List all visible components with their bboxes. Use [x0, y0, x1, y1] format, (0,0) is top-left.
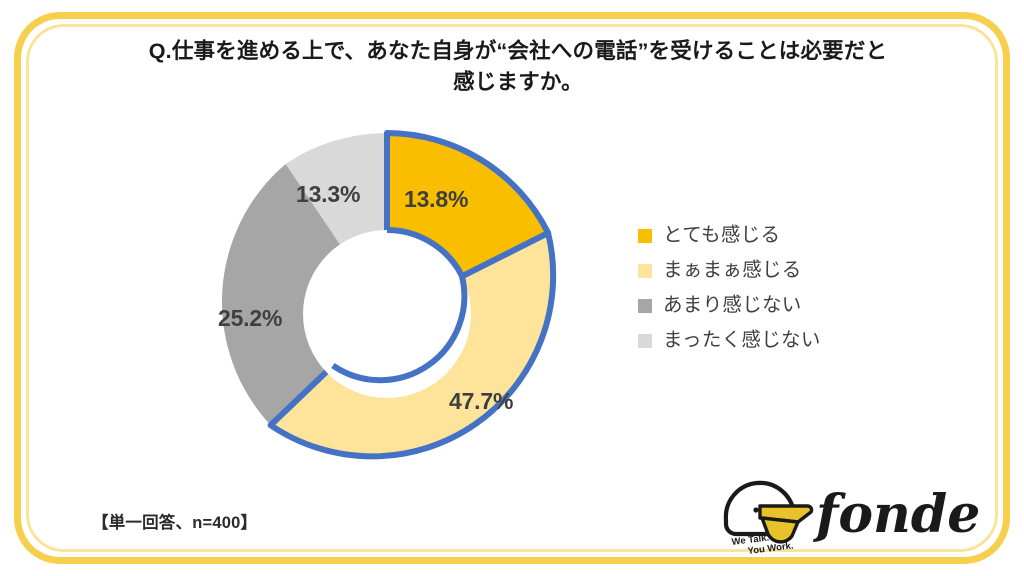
chart-legend: とても感じる まぁまぁ感じる あまり感じない まったく感じない [638, 218, 821, 358]
legend-item-notmuch[interactable]: あまり感じない [638, 288, 821, 323]
fondesk-wordmark: fondesk [812, 484, 980, 545]
legend-label: あまり感じない [663, 296, 802, 316]
legend-label: とても感じる [663, 226, 780, 246]
legend-swatch-icon [638, 264, 652, 278]
legend-swatch-icon [638, 334, 652, 348]
legend-item-very[interactable]: とても感じる [638, 218, 821, 253]
legend-item-notatall[interactable]: まったく感じない [638, 323, 821, 358]
slice-value-notatall: 13.3% [296, 181, 360, 208]
slide-canvas: Q.仕事を進める上で、あなた自身が“会社への電話”を受けることは必要だと感じます… [0, 0, 1024, 576]
slice-value-somewhat: 47.7% [449, 388, 513, 415]
fondesk-logo: We Talk. You Work. fondesk [712, 470, 980, 554]
legend-label: まぁまぁ感じる [663, 261, 802, 281]
legend-swatch-icon [638, 229, 652, 243]
legend-swatch-icon [638, 299, 652, 313]
fondesk-bird-mark [726, 483, 812, 542]
legend-item-somewhat[interactable]: まぁまぁ感じる [638, 253, 821, 288]
slice-value-notmuch: 25.2% [218, 305, 282, 332]
page-title: Q.仕事を進める上で、あなた自身が“会社への電話”を受けることは必要だと感じます… [138, 36, 898, 97]
survey-footnote: 【単一回答、n=400】 [92, 509, 257, 533]
legend-label: まったく感じない [663, 331, 821, 351]
slice-value-very: 13.8% [404, 186, 468, 213]
